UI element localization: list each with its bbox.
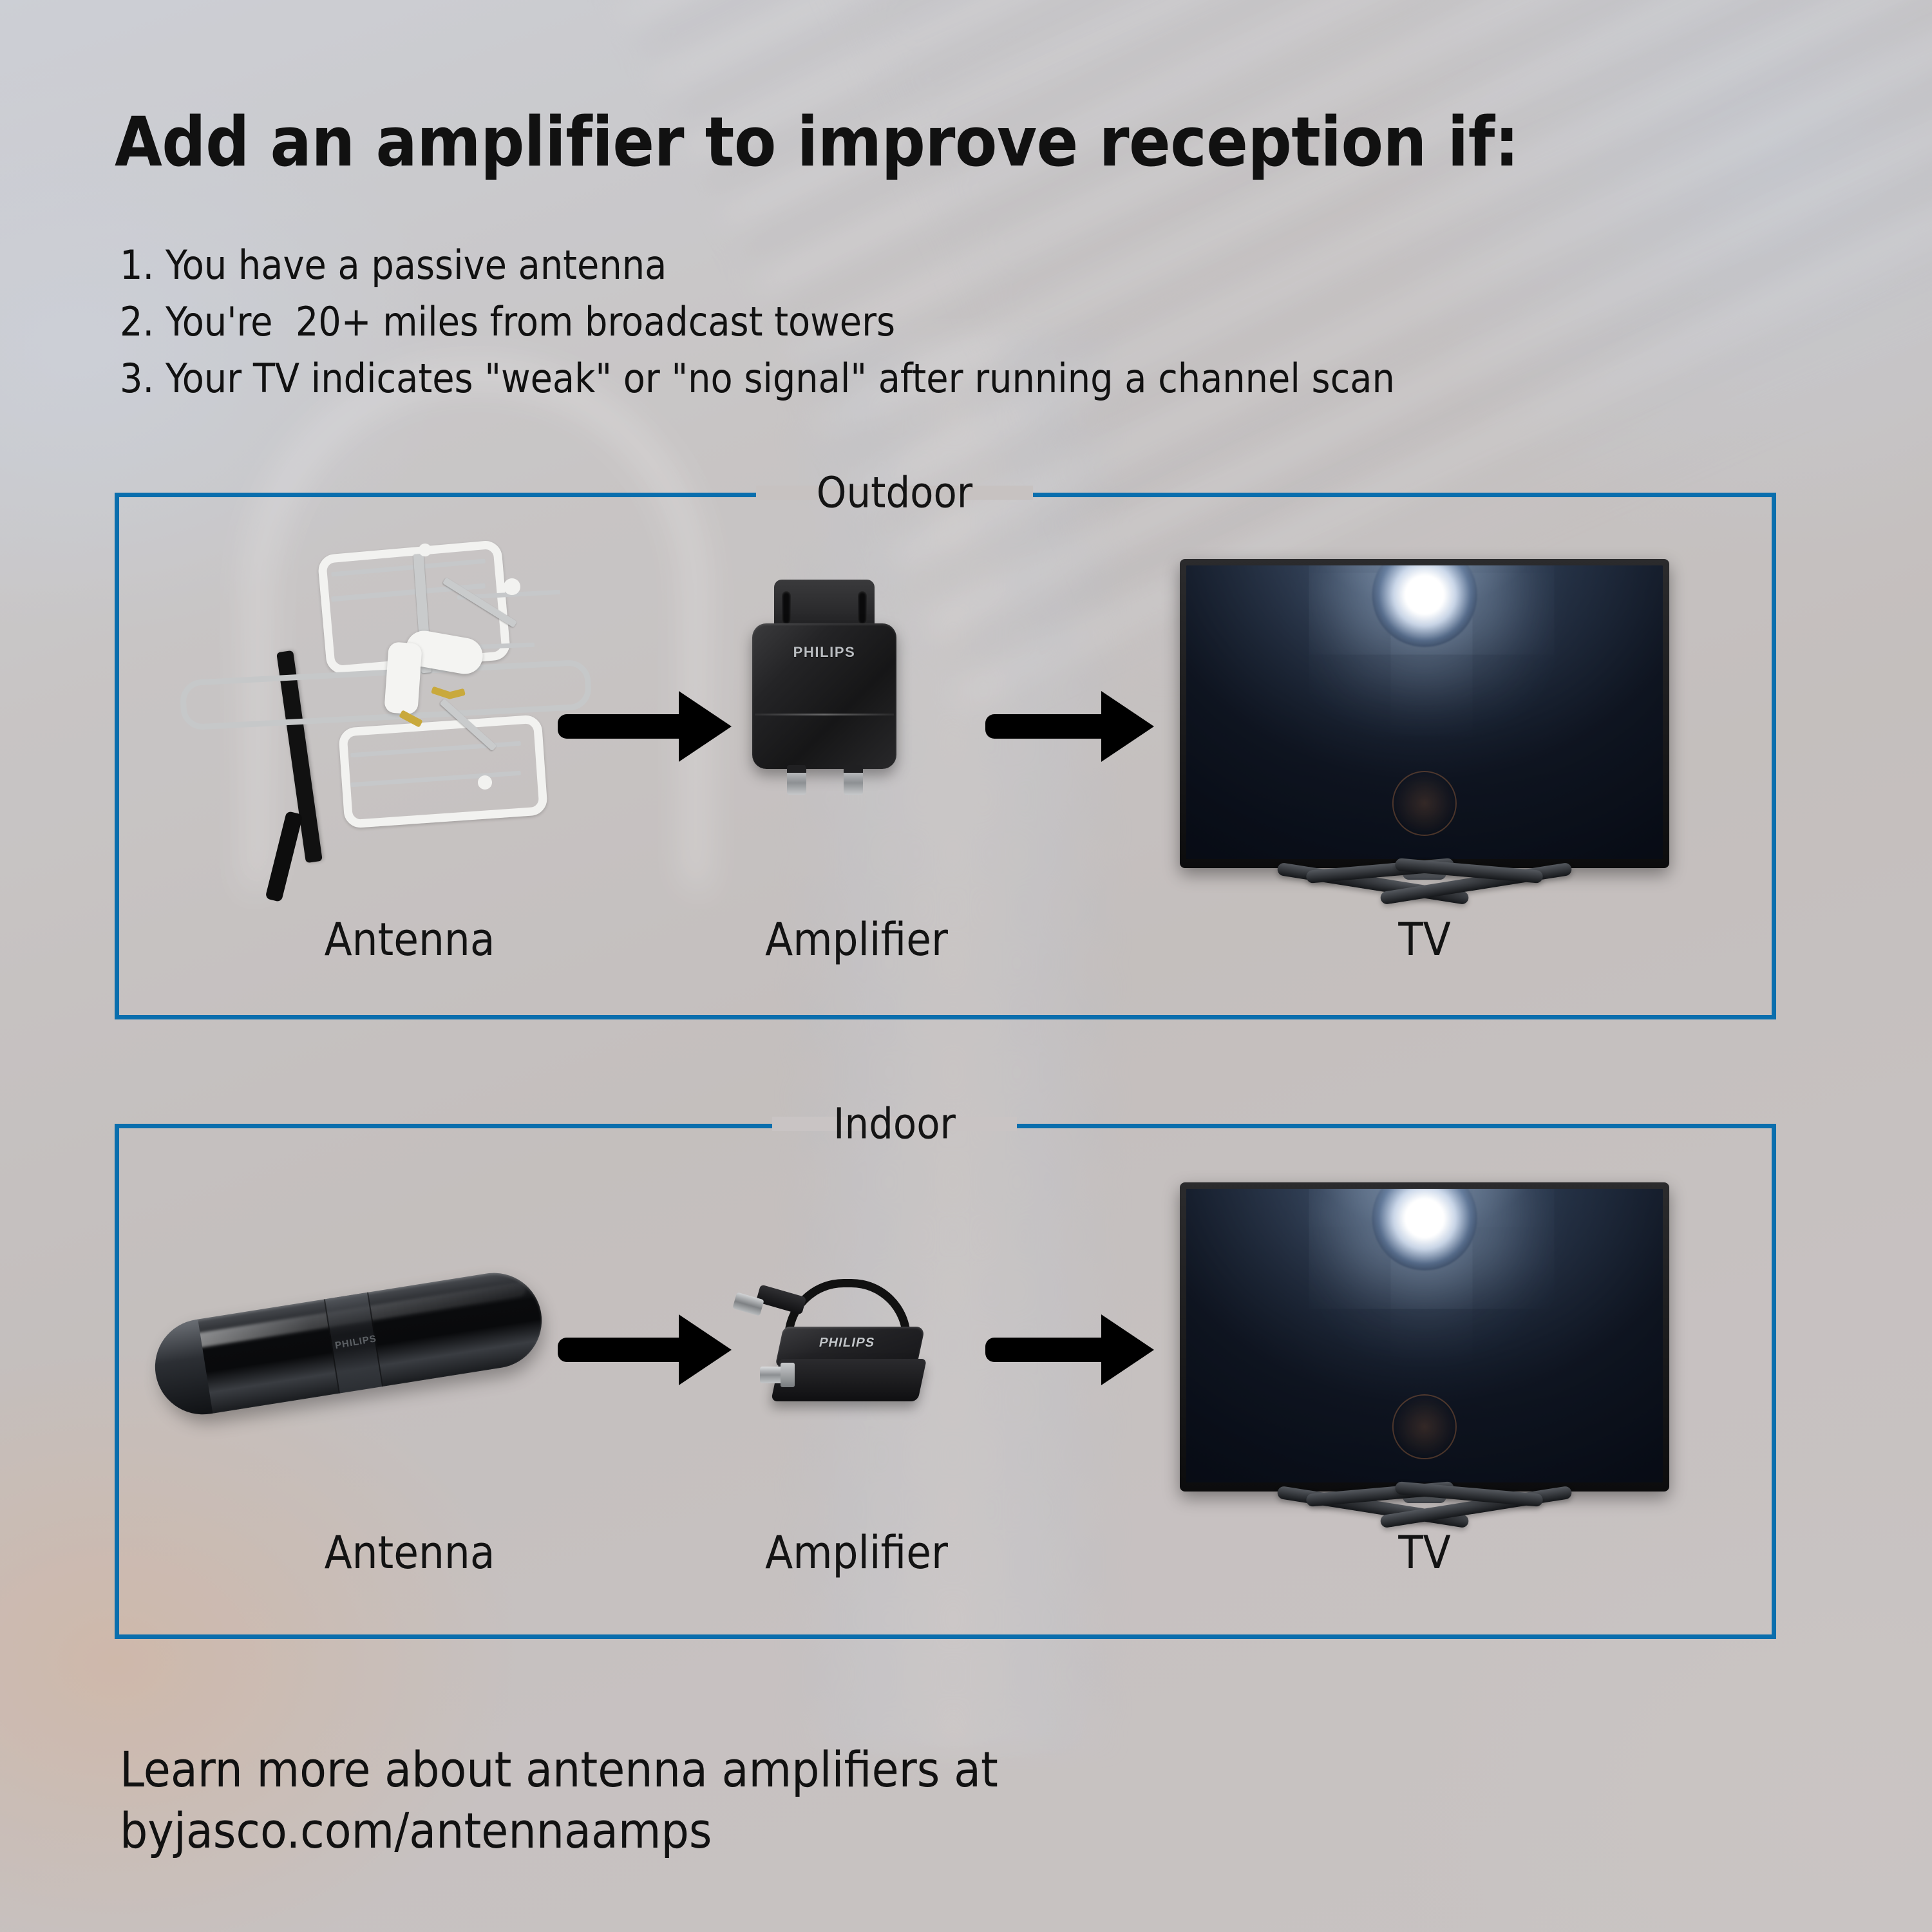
amplifier-connector-input: [787, 765, 806, 795]
tv-bezel: [1180, 1182, 1669, 1492]
amplifier-brand-logo: PHILIPS: [752, 644, 896, 661]
tv-lens-flare: [1392, 1394, 1457, 1459]
arrow-outdoor-antenna-to-amplifier: [558, 690, 732, 762]
footer-cta: Learn more about antenna amplifiers at b…: [120, 1739, 998, 1861]
tv-lens-flare: [1392, 771, 1457, 835]
amplifier-brand-logo: PHILIPS: [818, 1336, 876, 1350]
indoor-inline-amplifier: PHILIPS: [757, 1279, 951, 1427]
reason-item-1: 1. You have a passive antenna: [120, 237, 1395, 294]
footer-line-1: Learn more about antenna amplifiers at: [120, 1739, 998, 1800]
caption-outdoor-antenna: Antenna: [325, 913, 495, 966]
antenna-hub-lower: [384, 641, 422, 714]
tv-screen: [1186, 1189, 1663, 1482]
caption-indoor-antenna: Antenna: [325, 1526, 495, 1579]
page-title: Add an amplifier to improve reception if…: [115, 108, 1519, 176]
reasons-list: 1. You have a passive antenna 2. You're …: [120, 237, 1395, 407]
indoor-tv: [1180, 1182, 1669, 1556]
antenna-knob-bottom: [478, 775, 492, 790]
antenna-knob-top: [419, 544, 431, 556]
amplifier-seam: [755, 714, 894, 715]
amplifier-f-connector-nut: [781, 1363, 795, 1387]
reason-item-3: 3. Your TV indicates "weak" or "no signa…: [120, 350, 1395, 407]
bracket-slot-left: [782, 591, 791, 625]
tv-screen: [1186, 565, 1663, 859]
reason-item-2: 2. You're 20+ miles from broadcast tower…: [120, 294, 1395, 350]
footer-url[interactable]: byjasco.com/antennaamps: [120, 1800, 998, 1861]
arrow-outdoor-amplifier-to-tv: [985, 690, 1154, 762]
tv-bezel: [1180, 559, 1669, 868]
section-label-outdoor: Outdoor: [800, 468, 989, 518]
caption-outdoor-amplifier: Amplifier: [765, 913, 948, 966]
infographic-canvas: Add an amplifier to improve reception if…: [0, 0, 1932, 1932]
antenna-knob-right: [504, 578, 520, 595]
section-label-indoor: Indoor: [817, 1099, 972, 1149]
amplifier-connector-output: [844, 765, 863, 795]
caption-indoor-amplifier: Amplifier: [765, 1526, 948, 1579]
arrow-indoor-antenna-to-amplifier: [558, 1314, 732, 1386]
bracket-slot-right: [858, 591, 867, 625]
caption-indoor-tv: TV: [1398, 1526, 1451, 1579]
outdoor-tv: [1180, 559, 1669, 933]
amplifier-cable-plug: [756, 1284, 807, 1314]
outdoor-amplifier-box: PHILIPS: [752, 580, 896, 796]
arrow-indoor-amplifier-to-tv: [985, 1314, 1154, 1386]
antenna-mast-lower: [265, 811, 303, 902]
caption-outdoor-tv: TV: [1398, 913, 1451, 966]
